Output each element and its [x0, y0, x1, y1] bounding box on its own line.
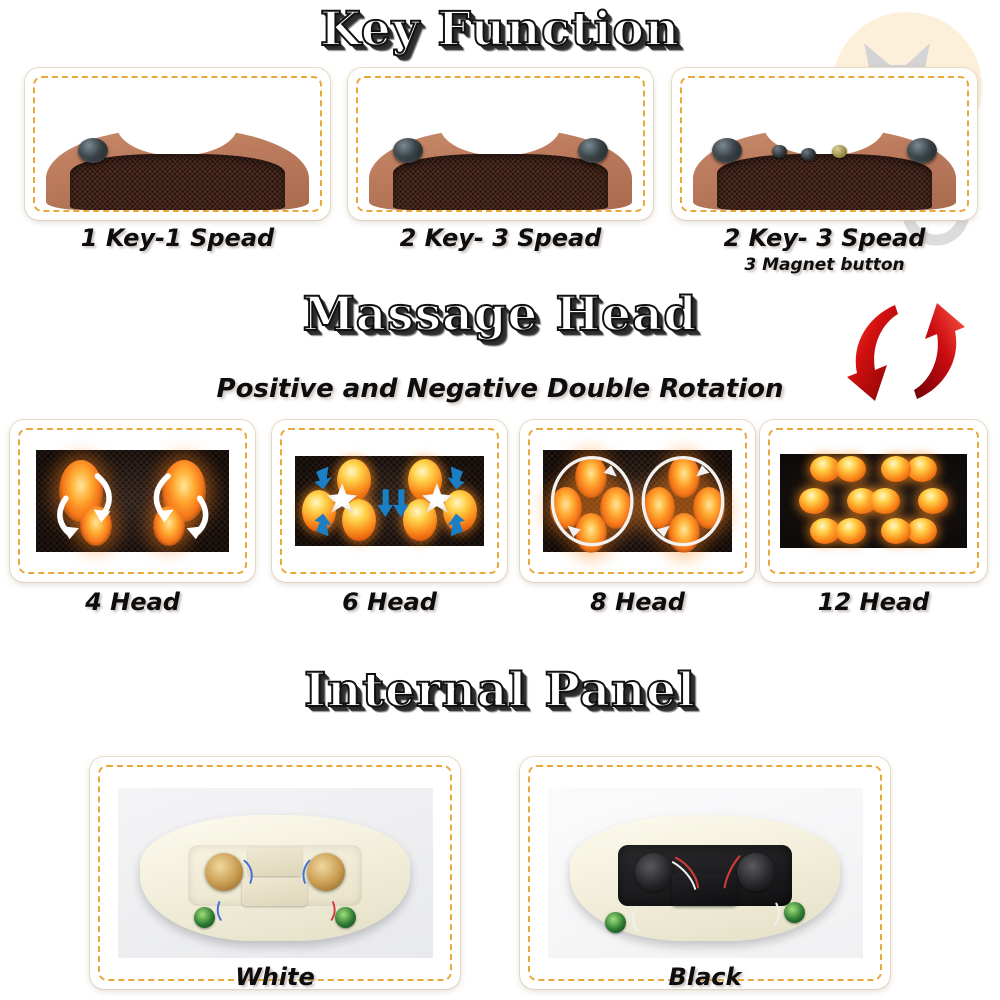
- internal-panel-photo-black-icon: [548, 788, 863, 958]
- dashed-frame: [528, 428, 747, 574]
- key-function-card-3: [672, 68, 977, 220]
- massage-head-card-12: [760, 420, 987, 582]
- massage-pillow-2key-3magnet-icon: [682, 78, 967, 210]
- dashed-frame: [98, 765, 452, 981]
- internal-panel-caption-black: Black: [520, 963, 890, 991]
- key-function-card-1: [25, 68, 330, 220]
- key-function-card-2: [348, 68, 653, 220]
- dashed-frame: [680, 76, 969, 212]
- massage-node-diagram-4-icon: [36, 450, 230, 552]
- internal-panel-caption-white: White: [90, 963, 460, 991]
- dashed-frame: [528, 765, 882, 981]
- dashed-frame: [33, 76, 322, 212]
- dashed-frame: [768, 428, 979, 574]
- massage-head-caption-8: 8 Head: [520, 588, 755, 616]
- massage-head-caption-6: 6 Head: [272, 588, 507, 616]
- key-function-caption-2: 2 Key- 3 Spead: [348, 224, 653, 252]
- massage-node-diagram-6-icon: [295, 456, 484, 547]
- double-rotation-arrows-icon: [845, 297, 967, 407]
- internal-panel-photo-white-icon: [118, 788, 433, 958]
- massage-pillow-2key-icon: [358, 78, 643, 210]
- massage-node-diagram-12-icon: [780, 454, 966, 548]
- dashed-frame: [280, 428, 499, 574]
- key-function-caption-1: 1 Key-1 Spead: [25, 224, 330, 252]
- massage-head-caption-4: 4 Head: [10, 588, 255, 616]
- page-title-internal-panel: Internal Panel: [0, 663, 1000, 718]
- massage-node-diagram-8-icon: [543, 450, 732, 552]
- key-function-caption-3: 2 Key- 3 Spead: [672, 224, 977, 252]
- dashed-frame: [18, 428, 247, 574]
- massage-head-card-6: [272, 420, 507, 582]
- page-title-key-function: Key Function: [0, 2, 1000, 57]
- internal-panel-card-white: [90, 757, 460, 989]
- internal-panel-card-black: [520, 757, 890, 989]
- massage-head-card-4: [10, 420, 255, 582]
- massage-head-caption-12: 12 Head: [760, 588, 987, 616]
- dashed-frame: [356, 76, 645, 212]
- massage-pillow-1key-icon: [35, 78, 320, 210]
- massage-head-card-8: [520, 420, 755, 582]
- infographic-page: Key Function 1 Key-1 Spead: [0, 0, 1000, 1000]
- key-function-caption-3-sub: 3 Magnet button: [672, 255, 977, 275]
